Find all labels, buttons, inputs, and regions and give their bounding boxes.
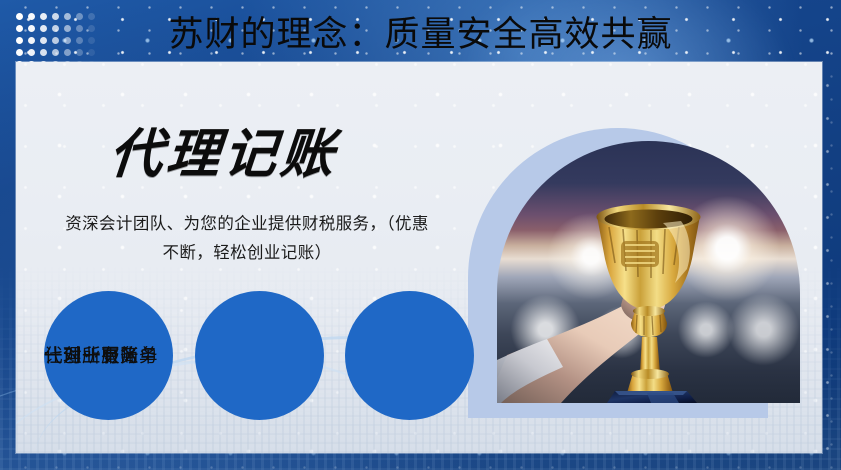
- trophy-photo: [497, 141, 800, 403]
- bottom-strip: [0, 453, 841, 470]
- feature-circle-3[interactable]: [345, 291, 474, 420]
- feature-circle-2[interactable]: [195, 291, 324, 420]
- body-text: 资深会计团队、为您的企业提供财税服务，（优惠不断，轻松创业记账）: [62, 210, 432, 268]
- page-title: 苏财的理念：质量安全高效共赢: [0, 0, 841, 62]
- feature-circle-group: 一对一服务 代理所有账务 让创业更简单: [44, 291, 474, 423]
- trophy-icon: [497, 141, 800, 403]
- header-bar: 苏财的理念：质量安全高效共赢: [0, 0, 841, 62]
- headline: 代理记账: [107, 112, 342, 188]
- slide-canvas: 苏财的理念：质量安全高效共赢: [0, 0, 841, 470]
- feature-circle-label-3: 让创业更简单: [44, 337, 158, 373]
